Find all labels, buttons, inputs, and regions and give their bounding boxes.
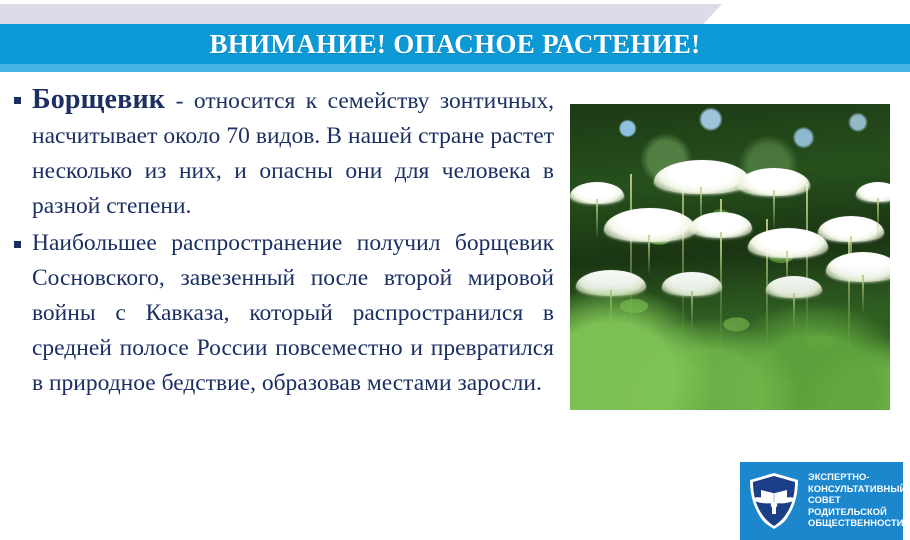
content-area: Борщевик - относится к семейству зонтичн… xyxy=(0,82,570,442)
logo-line: родительской xyxy=(808,507,906,518)
bullet-square-icon xyxy=(14,241,21,248)
bullet-square-icon xyxy=(14,97,21,104)
photo-foreground-foliage xyxy=(570,263,890,410)
organization-logo: Экспертно- консультативный совет родител… xyxy=(740,462,903,540)
logo-line: общественности xyxy=(808,518,906,529)
list-item: Борщевик - относится к семейству зонтичн… xyxy=(0,82,570,224)
bullet-lead-term: Борщевик xyxy=(32,84,165,115)
shield-book-wings-icon xyxy=(748,472,800,530)
banner-accent-strip xyxy=(0,4,722,25)
flower-umbel xyxy=(570,182,624,204)
logo-line: Экспертно- xyxy=(808,472,906,483)
logo-line: совет xyxy=(808,495,906,506)
hogweed-photo xyxy=(570,104,890,410)
flower-umbel xyxy=(856,182,890,202)
header-banner: ВНИМАНИЕ! ОПАСНОЕ РАСТЕНИЕ! xyxy=(0,0,910,74)
flower-umbel xyxy=(748,228,828,258)
list-item: Наибольшее распространение получил борще… xyxy=(0,226,570,401)
bullet-text: Наибольшее распространение получил борще… xyxy=(32,230,554,396)
bullet-list: Борщевик - относится к семейству зонтичн… xyxy=(0,82,570,401)
banner-underline xyxy=(0,64,910,72)
logo-text: Экспертно- консультативный совет родител… xyxy=(808,472,906,529)
flower-umbel xyxy=(818,216,884,242)
flower-umbel xyxy=(690,212,752,238)
flower-umbel xyxy=(738,168,810,196)
page-title: ВНИМАНИЕ! ОПАСНОЕ РАСТЕНИЕ! xyxy=(0,24,910,64)
logo-line: консультативный xyxy=(808,484,906,495)
